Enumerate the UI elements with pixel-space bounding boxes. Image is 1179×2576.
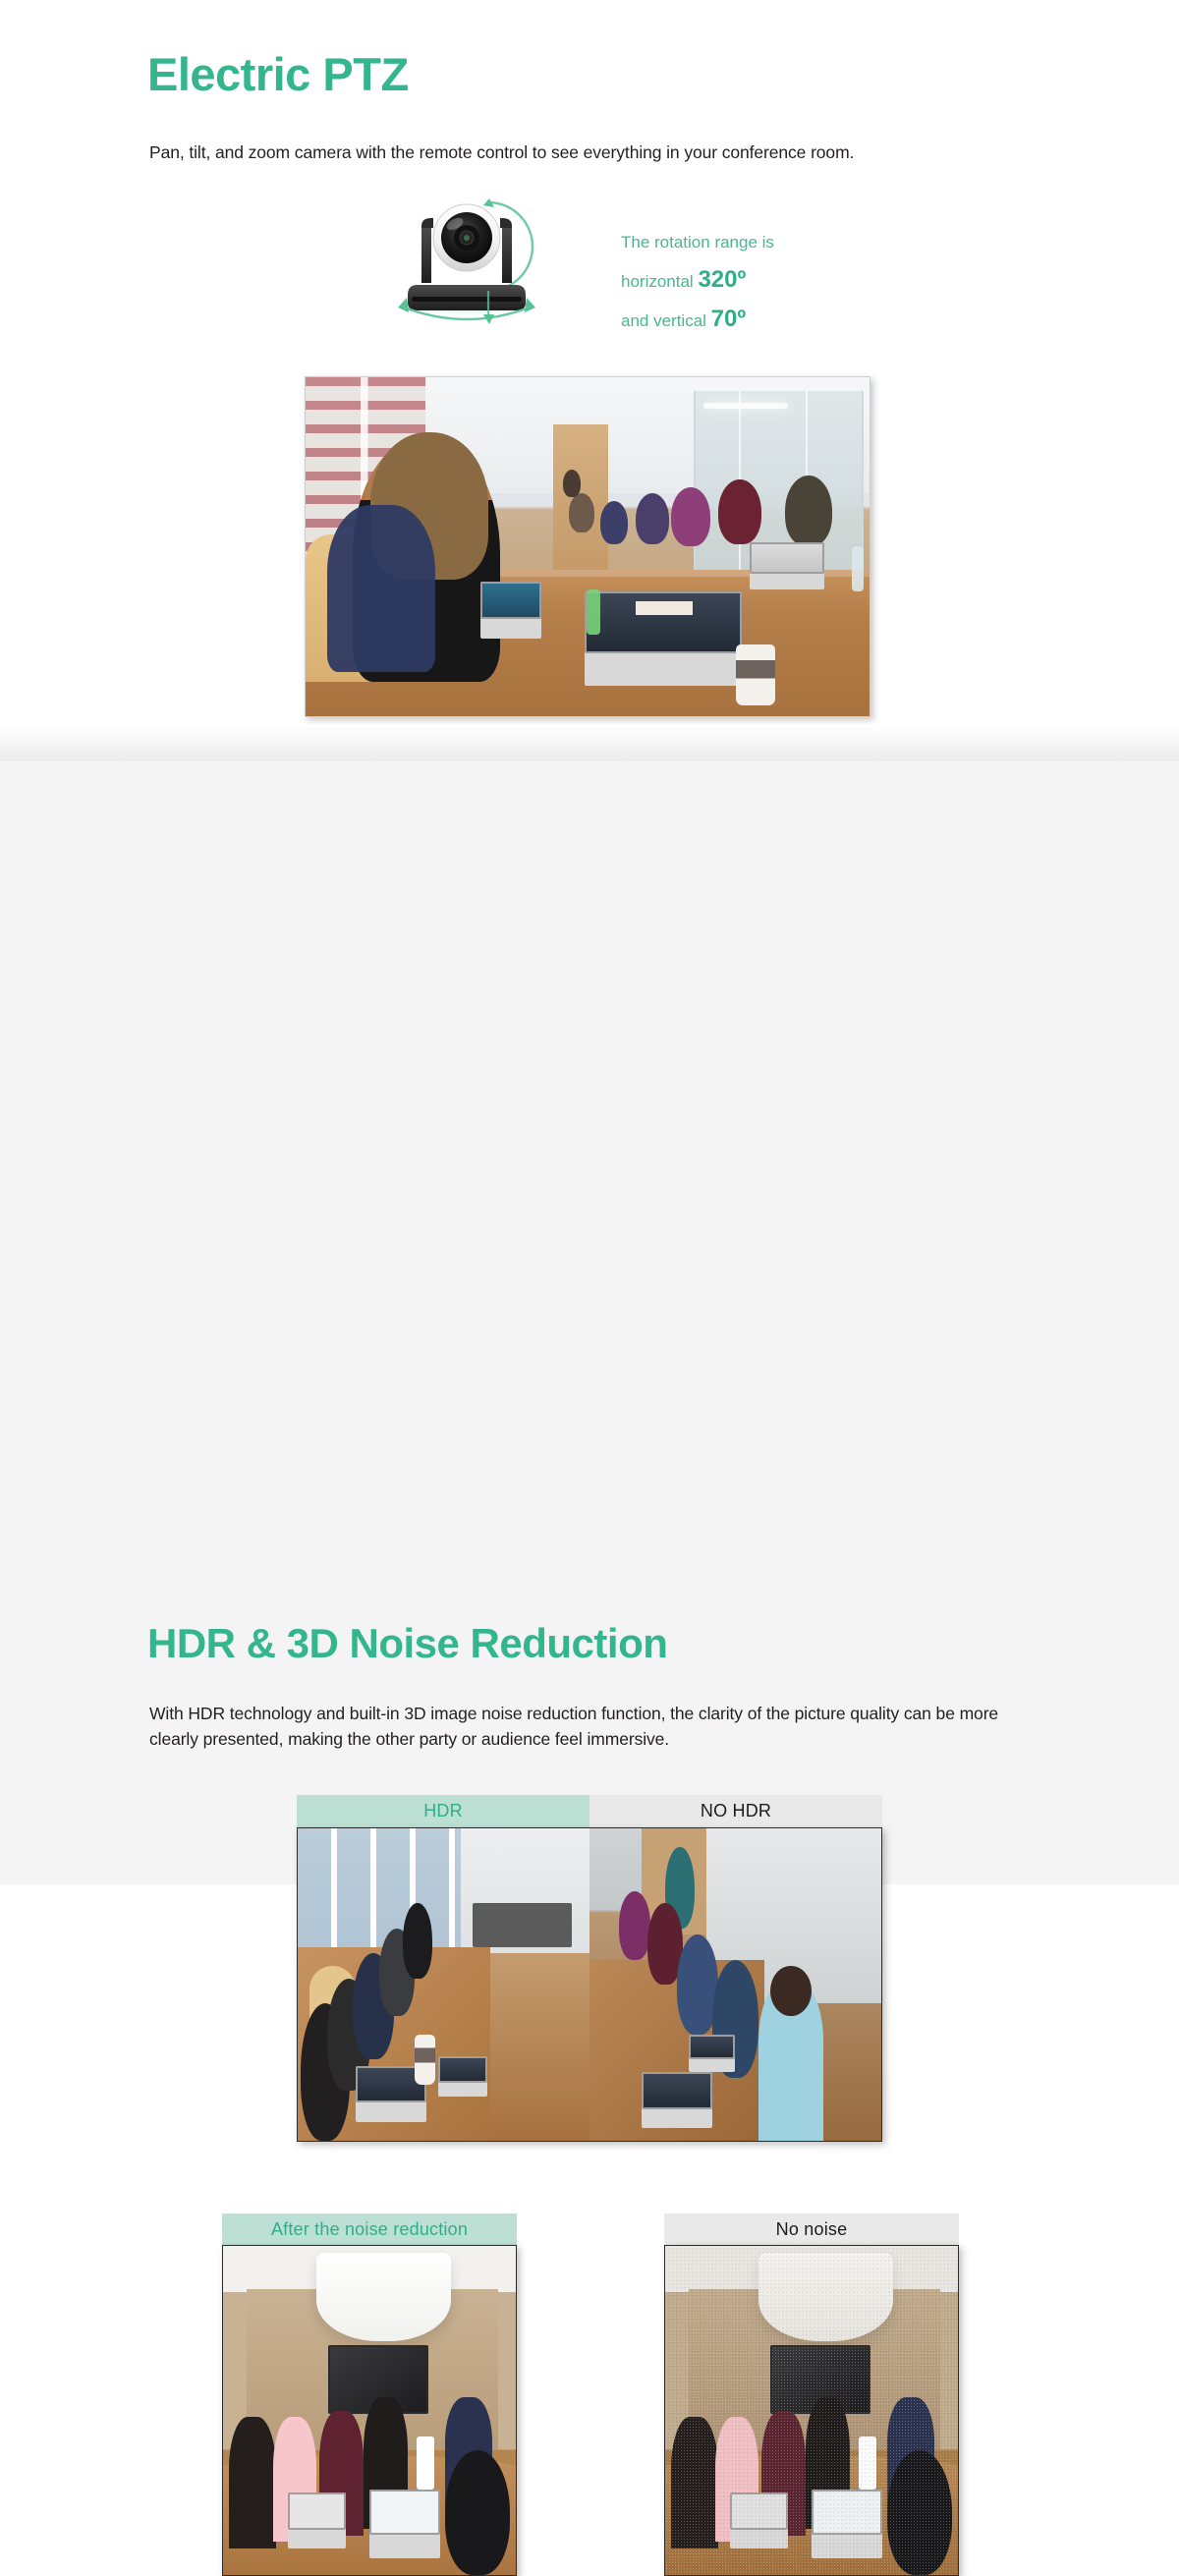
noise-reduction-before: No noise xyxy=(664,2213,959,2576)
product-feature-page: Electric PTZ Pan, tilt, and zoom camera … xyxy=(0,0,1179,1884)
rotation-line-3: and vertical 70º xyxy=(621,301,774,340)
vertical-value: 70º xyxy=(711,306,746,332)
rotation-range-caption: The rotation range is horizontal 320º an… xyxy=(621,224,774,340)
hdr-photo-left xyxy=(298,1828,589,2141)
hdr-title: HDR & 3D Noise Reduction xyxy=(147,1623,667,1664)
section-electric-ptz: Electric PTZ Pan, tilt, and zoom camera … xyxy=(0,0,1179,761)
page-title: Electric PTZ xyxy=(147,51,409,97)
hdr-comparison: HDR NO HDR xyxy=(297,1795,882,2142)
horizontal-label: horizontal xyxy=(621,272,694,291)
noise-reduced-photo xyxy=(222,2245,517,2576)
hdr-comparison-photo xyxy=(297,1827,882,2142)
horizontal-value: 320º xyxy=(698,266,746,293)
vertical-label: and vertical xyxy=(621,311,706,330)
noise-before-label: No noise xyxy=(664,2213,959,2245)
hdr-label-on: HDR xyxy=(297,1795,589,1827)
hdr-photo-right xyxy=(589,1828,881,2141)
ptz-camera-icon xyxy=(378,187,555,354)
noise-reduction-after: After the noise reduction xyxy=(222,2213,517,2576)
hdr-label-bar: HDR NO HDR xyxy=(297,1795,882,1827)
noisy-photo xyxy=(664,2245,959,2576)
section-hdr-noise-reduction: HDR & 3D Noise Reduction With HDR techno… xyxy=(0,761,1179,1884)
hdr-label-off: NO HDR xyxy=(589,1795,882,1827)
rotation-line-1: The rotation range is xyxy=(621,224,774,261)
noise-before-label-bar: No noise xyxy=(664,2213,959,2245)
noise-after-label-bar: After the noise reduction xyxy=(222,2213,517,2245)
conference-room-photo xyxy=(305,376,870,717)
ptz-subheading: Pan, tilt, and zoom camera with the remo… xyxy=(149,142,854,163)
hdr-paragraph: With HDR technology and built-in 3D imag… xyxy=(149,1701,1034,1752)
noise-after-label: After the noise reduction xyxy=(222,2213,517,2245)
rotation-line-2: horizontal 320º xyxy=(621,261,774,301)
